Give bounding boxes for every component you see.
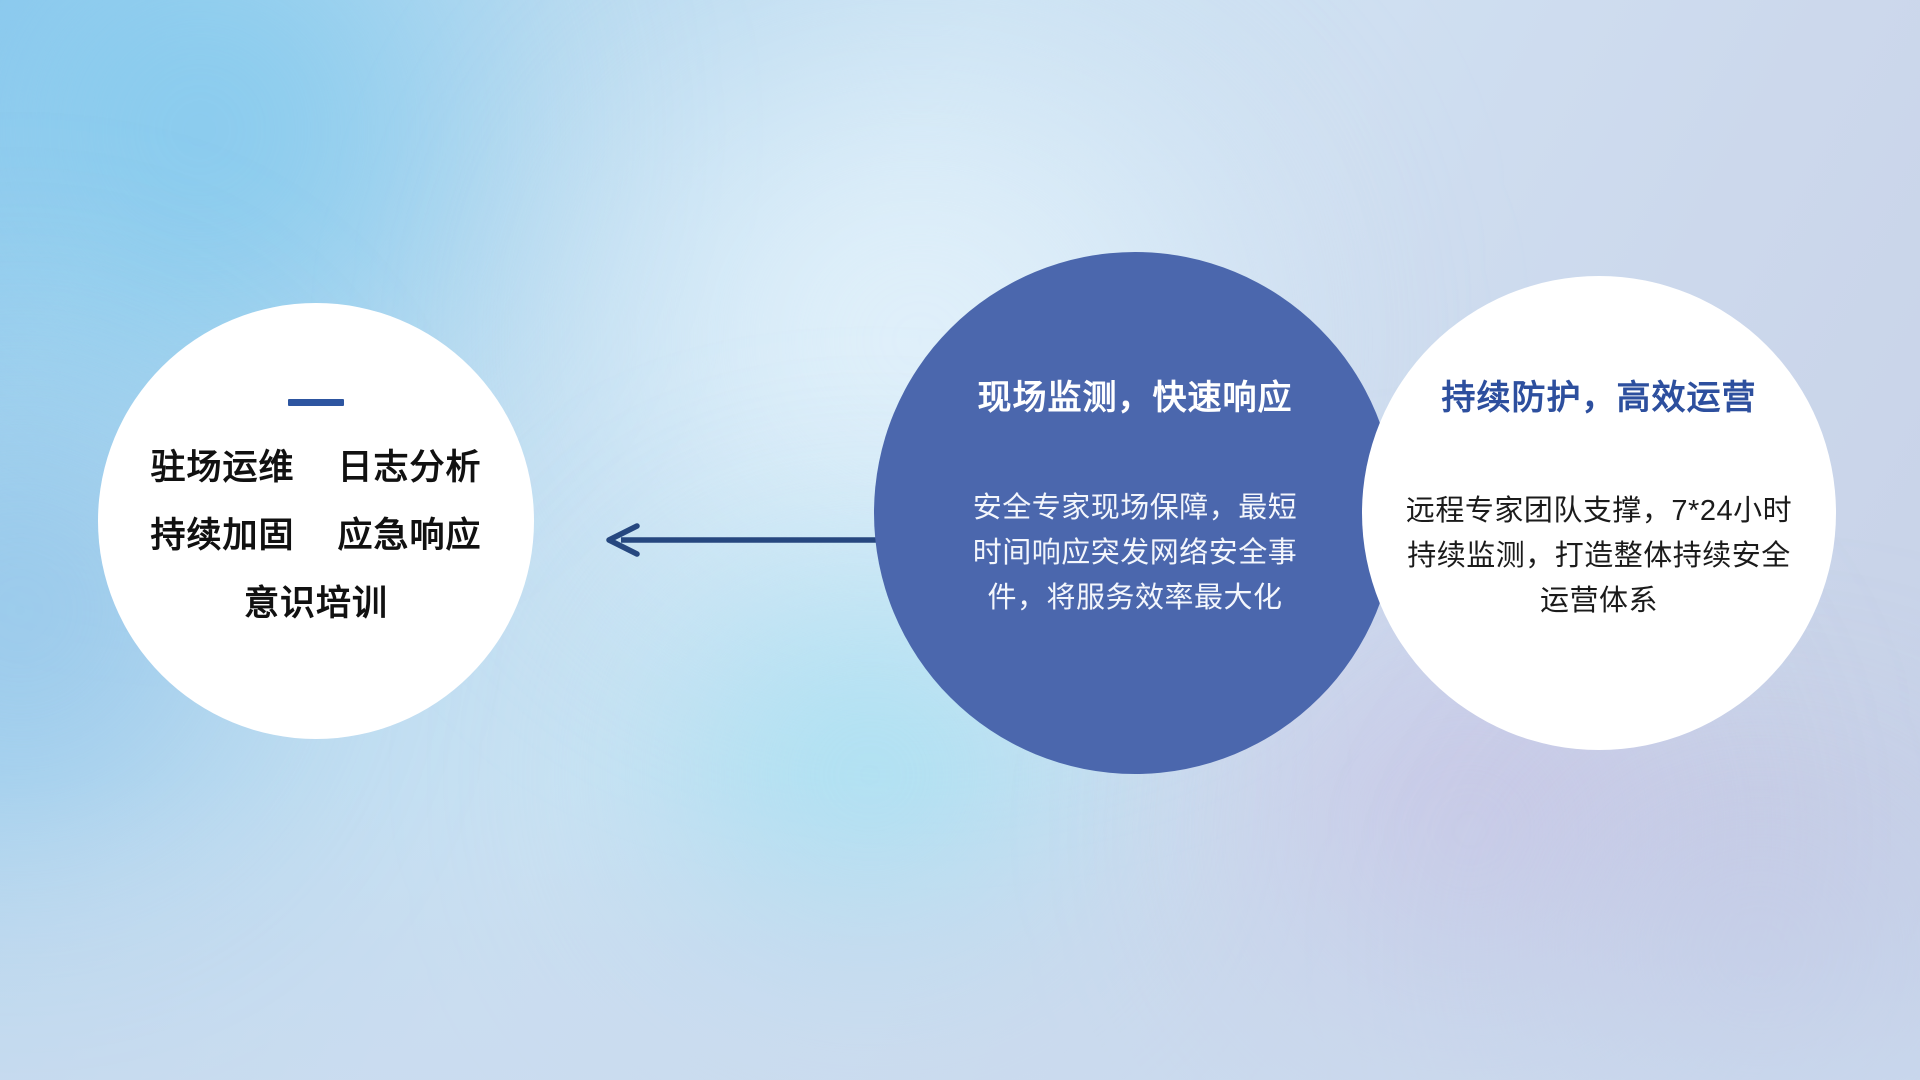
- capability-line-2: 持续加固 应急响应: [98, 518, 534, 553]
- capability-line-1: 驻场运维 日志分析: [98, 450, 534, 485]
- flow-arrow-icon: [595, 518, 895, 562]
- node-onsite-monitoring-title: 现场监测，快速响应: [920, 380, 1350, 417]
- node-onsite-monitoring-content: 现场监测，快速响应 安全专家现场保障，最短时间响应突发网络安全事件，将服务效率最…: [920, 380, 1350, 621]
- background-bottom-fade: [0, 780, 1920, 1080]
- diagram-canvas: 驻场运维 日志分析 持续加固 应急响应 意识培训 现场监测，快速响应 安全专家现…: [0, 0, 1920, 1080]
- node-capabilities-content: 驻场运维 日志分析 持续加固 应急响应 意识培训: [98, 399, 534, 621]
- node-continuous-protection-content: 持续防护，高效运营 远程专家团队支撑，7*24小时持续监测，打造整体持续安全运营…: [1380, 380, 1818, 624]
- node-continuous-protection-title: 持续防护，高效运营: [1380, 380, 1818, 417]
- node-capabilities[interactable]: 驻场运维 日志分析 持续加固 应急响应 意识培训: [98, 303, 534, 739]
- node-continuous-protection-body: 远程专家团队支撑，7*24小时持续监测，打造整体持续安全运营体系: [1380, 489, 1818, 624]
- node-onsite-monitoring-body: 安全专家现场保障，最短时间响应突发网络安全事件，将服务效率最大化: [920, 486, 1350, 621]
- node-onsite-monitoring[interactable]: 现场监测，快速响应 安全专家现场保障，最短时间响应突发网络安全事件，将服务效率最…: [874, 252, 1396, 774]
- node-continuous-protection[interactable]: 持续防护，高效运营 远程专家团队支撑，7*24小时持续监测，打造整体持续安全运营…: [1362, 276, 1836, 750]
- capability-line-3: 意识培训: [98, 586, 534, 621]
- title-divider-dash: [288, 399, 344, 406]
